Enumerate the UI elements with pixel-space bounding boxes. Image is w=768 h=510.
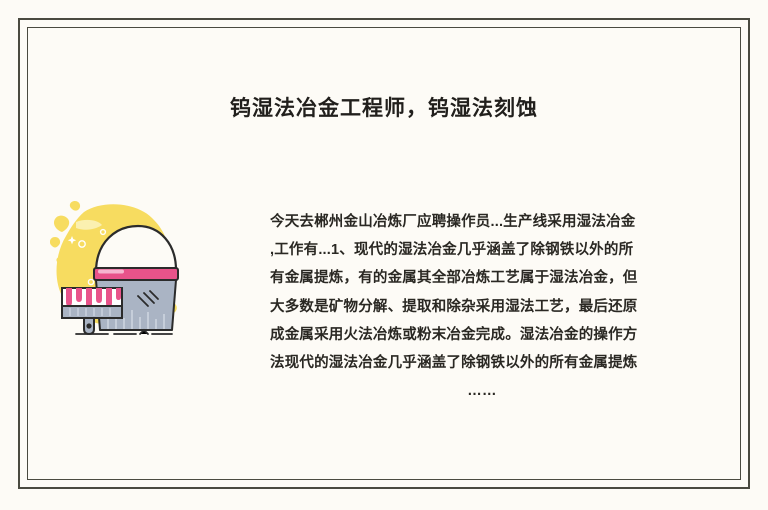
article-line: ,工作有...1、现代的湿法冶金几乎涵盖了除钢铁以外的所 <box>270 236 712 264</box>
article-ellipsis: …… <box>270 377 712 405</box>
bucket-rim <box>94 268 178 280</box>
article-line: 大多数是矿物分解、提取和除杂采用湿法工艺，最后还原 <box>270 293 712 321</box>
article-body: 今天去郴州金山冶炼厂应聘操作员...生产线采用湿法冶金 ,工作有...1、现代的… <box>270 208 712 405</box>
article-line: 有金属提炼，有的金属其全部冶炼工艺属于湿法冶金，但 <box>270 264 712 292</box>
paint-bucket-illustration <box>50 198 182 338</box>
article-line: 成金属采用火法冶炼或粉末冶金完成。湿法冶金的操作方 <box>270 321 712 349</box>
article-line: 法现代的湿法冶金几乎涵盖了除钢铁以外的所有金属提炼 <box>270 349 712 377</box>
article-line: 今天去郴州金山冶炼厂应聘操作员...生产线采用湿法冶金 <box>270 208 712 236</box>
page-canvas: 钨湿法冶金工程师，钨湿法刻蚀 <box>0 0 768 510</box>
page-title: 钨湿法冶金工程师，钨湿法刻蚀 <box>0 94 768 124</box>
